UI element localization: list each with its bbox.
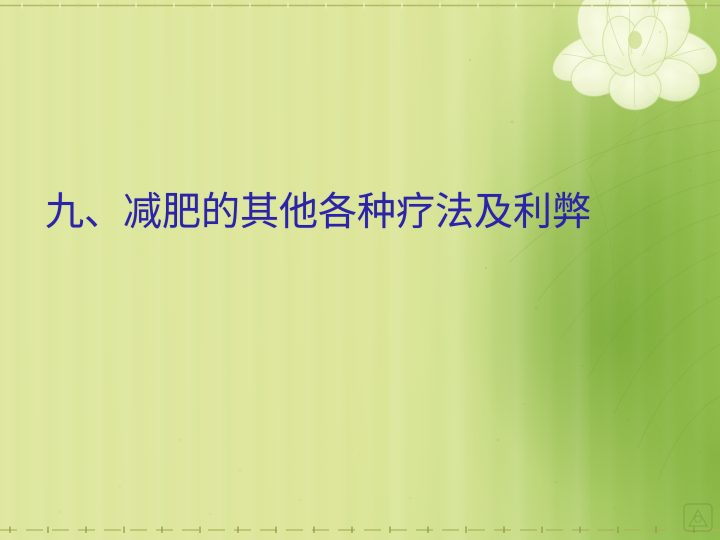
page-title: 九、减肥的其他各种疗法及利弊 [45, 189, 645, 237]
presentation-slide: 九、减肥的其他各种疗法及利弊 [0, 0, 720, 540]
leaf-vein-lines [390, 0, 720, 540]
